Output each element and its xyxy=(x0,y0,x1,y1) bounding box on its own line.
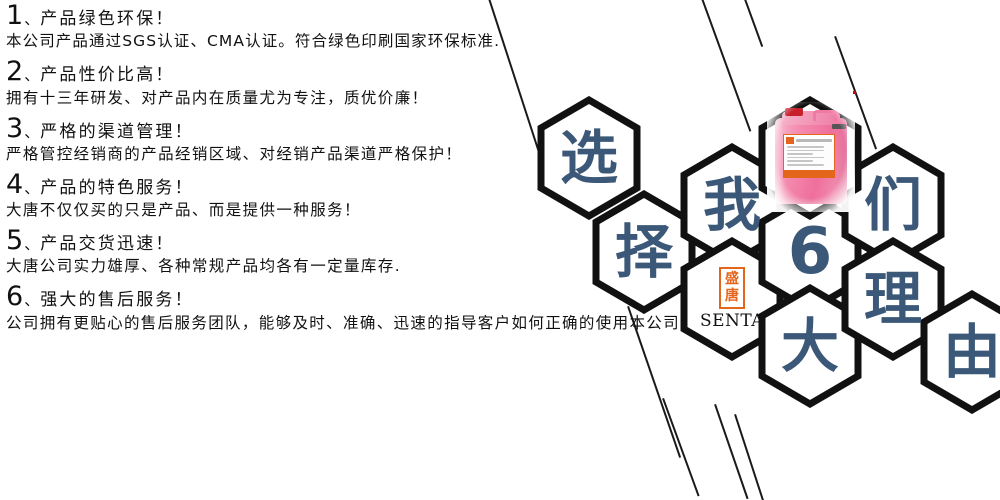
jerrycan-handle xyxy=(813,110,837,121)
poster-root: 1、产品绿色环保！本公司产品通过SGS认证、CMA认证。符合绿色印刷国家环保标准… xyxy=(0,0,1000,500)
hexagon-label: 由 xyxy=(917,290,1000,414)
jerrycan-cap xyxy=(785,108,803,116)
logo-seal-char-1: 盛 xyxy=(725,271,739,288)
hex-you: 由 xyxy=(917,290,1000,414)
product-jerrycan-image xyxy=(773,108,849,206)
jerrycan-label xyxy=(783,134,835,178)
logo-seal-char-2: 唐 xyxy=(725,288,739,305)
hex-product xyxy=(755,96,865,220)
hexagon-cluster: 选择我盛唐SENTA6大们理由 xyxy=(0,0,1000,500)
label-brand-mark xyxy=(786,137,794,144)
jerrycan-weight-text xyxy=(832,124,846,129)
red-dot-artifact xyxy=(853,91,856,94)
logo-seal-icon: 盛唐 xyxy=(719,267,745,309)
label-footer-band xyxy=(784,170,834,177)
